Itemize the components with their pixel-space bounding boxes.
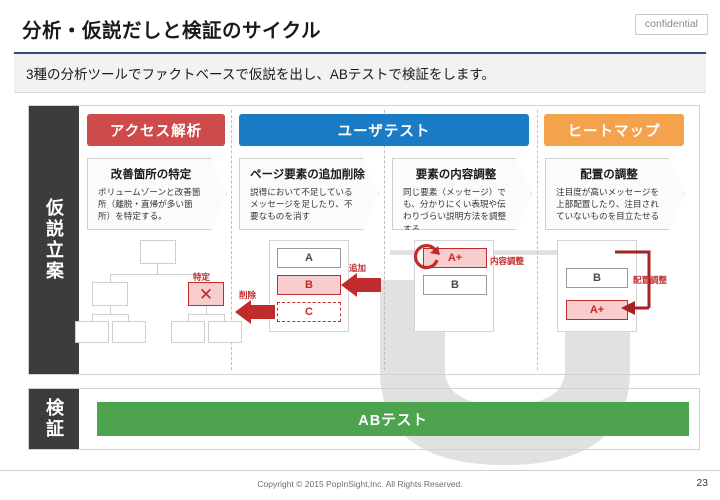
tool-chip-label: ユーザテスト [338,120,431,141]
tree-node-flagged: ✕ [188,282,224,306]
annotation-remove: 削除 [239,289,256,301]
step-body: 注目度が高いメッセージを上部配置したり、注目されていないものを目立たせる [556,186,662,223]
step-box-4: 配置の調整 注目度が高いメッセージを上部配置したり、注目されていないものを目立た… [545,158,685,230]
tree-node-leaf [171,321,205,343]
diagram-content-adjust: A+ B 内容調整 [392,238,534,368]
tree-connector [110,274,206,275]
annotation-identify: 特定 [193,271,210,283]
copyright-text: Copyright © 2015 PopInSight,Inc. All Rig… [0,479,720,489]
x-marker: ✕ [199,286,213,303]
tool-chip-heatmap[interactable]: ヒートマップ [544,114,684,146]
element-row-b: B [423,275,487,295]
step-box-2: ページ要素の追加削除 説得において不足しているメッセージを足したり、不要なものを… [239,158,379,230]
page-number: 23 [696,477,708,489]
tree-connector [128,314,129,321]
page-title: 分析・仮説だしと検証のサイクル [22,14,321,43]
element-row-a: A [277,248,341,268]
tree-node-leaf [112,321,146,343]
tree-connector [224,314,225,321]
tool-chip-user-test[interactable]: ユーザテスト [239,114,529,146]
confidential-badge: confidential [635,14,708,35]
step-body: 同じ要素（メッセージ）でも、分かりにくい表現や伝わりづらい説明方法を調整する [403,186,509,235]
element-row-b: B [277,275,341,295]
tree-node-leaf [208,321,242,343]
tool-chip-label: ヒートマップ [568,120,661,141]
annotation-layout-adjust: 配置調整 [633,274,667,286]
tool-chip-label: アクセス解析 [110,120,202,141]
verification-sidebar: 検証 [29,389,79,449]
tree-connector [188,314,225,315]
tree-connector [110,306,111,314]
ab-test-bar[interactable]: ABテスト [97,402,689,436]
verification-sidebar-label: 検証 [41,398,67,440]
step-title: ページ要素の追加削除 [250,166,356,182]
tree-connector [206,306,207,314]
step-title: 改善箇所の特定 [98,166,204,182]
hypothesis-body: アクセス解析 ユーザテスト ヒートマップ 改善箇所の特定 ボリュームゾーンと改善… [79,106,699,374]
tree-connector [157,264,158,274]
footer-divider [0,470,720,471]
step-body: ボリュームゾーンと改善箇所（離脱・直帰が多い箇所）を特定する。 [98,186,204,223]
diagram-layout-adjust: B A+ 配置調整 [545,238,687,368]
step-title: 配置の調整 [556,166,662,182]
subtitle-text: 3種の分析ツールでファクトベースで仮説を出し、ABテストで検証をします。 [26,63,495,83]
verification-panel: 検証 ABテスト [28,388,700,450]
hypothesis-sidebar-label: 仮説立案 [41,198,67,282]
annotation-add: 追加 [349,262,366,274]
tree-connector [92,314,129,315]
refresh-circular-arrow-icon [412,242,442,272]
tree-node-root [140,240,176,264]
diagram-element-add-remove: A B C 追加 削除 [239,238,381,368]
tool-chip-access-analysis[interactable]: アクセス解析 [87,114,225,146]
tree-connector [188,314,189,321]
column-separator-3 [537,110,538,370]
annotation-content-adjust: 内容調整 [490,255,524,267]
slide-root: 分析・仮説だしと検証のサイクル confidential 3種の分析ツールでファ… [0,0,720,498]
element-row-c: C [277,302,341,322]
hypothesis-panel: 仮説立案 アクセス解析 ユーザテスト ヒートマップ 改善箇所の特定 ボリュームゾ… [28,105,700,375]
arrow-remove-icon [233,300,275,324]
step-title: 要素の内容調整 [403,166,509,182]
ab-test-label: ABテスト [358,409,427,430]
tree-node-branch-left [92,282,128,306]
diagram-site-tree: ✕ 特定 [87,238,229,368]
column-separator-2 [384,110,385,370]
step-box-3: 要素の内容調整 同じ要素（メッセージ）でも、分かりにくい表現や伝わりづらい説明方… [392,158,532,230]
tree-connector [110,274,111,282]
hypothesis-sidebar: 仮説立案 [29,106,79,374]
step-body: 説得において不足しているメッセージを足したり、不要なものを消す [250,186,356,223]
arrow-add-icon [339,273,381,297]
tree-connector [92,314,93,321]
step-box-1: 改善箇所の特定 ボリュームゾーンと改善箇所（離脱・直帰が多い箇所）を特定する。 [87,158,227,230]
tree-node-leaf [75,321,109,343]
